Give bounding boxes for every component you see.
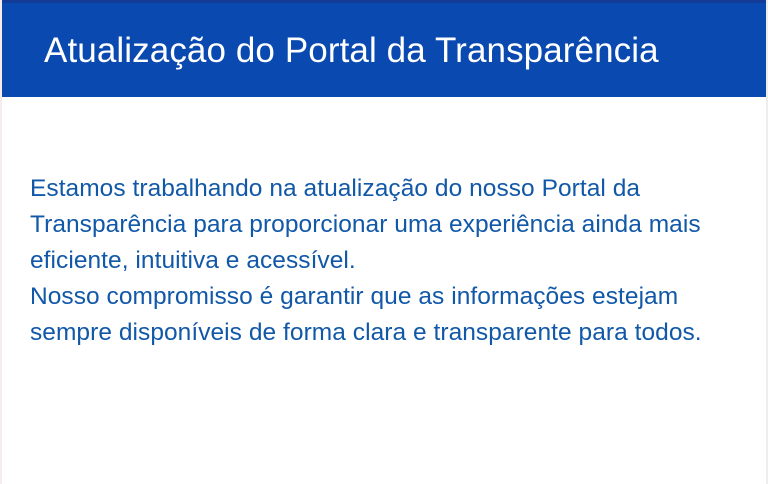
body-content: Estamos trabalhando na atualização do no… bbox=[2, 97, 766, 484]
notice-message: Estamos trabalhando na atualização do no… bbox=[30, 171, 742, 351]
header-banner: Atualização do Portal da Transparência bbox=[2, 0, 766, 97]
notice-page: Atualização do Portal da Transparência E… bbox=[0, 0, 768, 484]
notice-paragraph-2: Nosso compromisso é garantir que as info… bbox=[30, 279, 742, 351]
page-title: Atualização do Portal da Transparência bbox=[44, 29, 659, 73]
notice-paragraph-1: Estamos trabalhando na atualização do no… bbox=[30, 171, 742, 279]
